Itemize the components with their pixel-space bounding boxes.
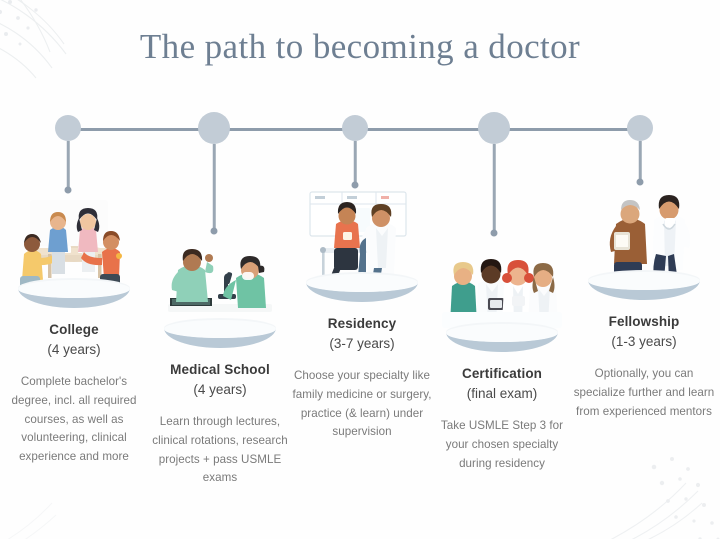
podium bbox=[306, 272, 418, 306]
timeline-segment-3 bbox=[355, 128, 494, 131]
lab-microscope-students-illustration bbox=[146, 236, 294, 352]
step-body-medical-school: Learn through lectures, clinical rotatio… bbox=[146, 413, 294, 488]
step-medical-school[interactable]: Medical School (4 years) Learn through l… bbox=[146, 236, 294, 488]
timeline-stem-residency bbox=[354, 141, 357, 184]
timeline-node-residency[interactable] bbox=[342, 115, 368, 141]
step-body-fellowship: Optionally, you can specialize further a… bbox=[570, 365, 718, 421]
step-duration-residency: (3-7 years) bbox=[288, 334, 436, 354]
step-residency[interactable]: Residency (3-7 years) Choose your specia… bbox=[288, 190, 436, 442]
timeline-dot-residency bbox=[352, 182, 359, 189]
botanical-dots-decoration bbox=[596, 421, 720, 539]
step-title-certification: Certification bbox=[428, 364, 576, 384]
timeline-stem-certification bbox=[493, 144, 496, 232]
podium bbox=[164, 318, 276, 352]
timeline-node-medical-school[interactable] bbox=[198, 112, 230, 144]
step-body-residency: Choose your specialty like family medici… bbox=[288, 367, 436, 442]
podium bbox=[588, 270, 700, 304]
step-college[interactable]: College (4 years) Complete bachelor's de… bbox=[0, 196, 148, 467]
step-title-medical-school: Medical School bbox=[146, 360, 294, 380]
timeline-dot-medical-school bbox=[211, 228, 218, 235]
doctor-examining-patient-illustration bbox=[288, 190, 436, 306]
step-duration-medical-school: (4 years) bbox=[146, 380, 294, 400]
podium bbox=[18, 278, 130, 312]
timeline-node-fellowship[interactable] bbox=[627, 115, 653, 141]
step-title-college: College bbox=[0, 320, 148, 340]
timeline-dot-certification bbox=[491, 230, 498, 237]
step-body-certification: Take USMLE Step 3 for your chosen specia… bbox=[428, 417, 576, 473]
timeline-segment-1 bbox=[68, 128, 214, 131]
timeline-segment-4 bbox=[494, 128, 640, 131]
timeline-stem-medical-school bbox=[213, 144, 216, 230]
timeline-dot-fellowship bbox=[637, 179, 644, 186]
botanical-leaf-decoration bbox=[0, 459, 110, 539]
step-fellowship[interactable]: Fellowship (1-3 years) Optionally, you c… bbox=[570, 188, 718, 421]
timeline-stem-fellowship bbox=[639, 141, 642, 181]
medical-team-group-illustration bbox=[428, 240, 576, 356]
step-body-college: Complete bachelor's degree, incl. all re… bbox=[0, 373, 148, 467]
timeline-node-college[interactable] bbox=[55, 115, 81, 141]
infographic-canvas: The path to becoming a doctor bbox=[0, 0, 720, 539]
timeline-node-certification[interactable] bbox=[478, 112, 510, 144]
timeline-stem-college bbox=[67, 141, 70, 189]
podium bbox=[446, 322, 558, 356]
step-duration-fellowship: (1-3 years) bbox=[570, 332, 718, 352]
mentor-and-doctor-illustration bbox=[570, 188, 718, 304]
step-duration-certification: (final exam) bbox=[428, 384, 576, 404]
step-duration-college: (4 years) bbox=[0, 340, 148, 360]
students-studying-at-table-illustration bbox=[0, 196, 148, 312]
timeline-dot-college bbox=[65, 187, 72, 194]
step-title-fellowship: Fellowship bbox=[570, 312, 718, 332]
timeline-segment-2 bbox=[214, 128, 355, 131]
step-certification[interactable]: Certification (final exam) Take USMLE St… bbox=[428, 240, 576, 473]
step-title-residency: Residency bbox=[288, 314, 436, 334]
